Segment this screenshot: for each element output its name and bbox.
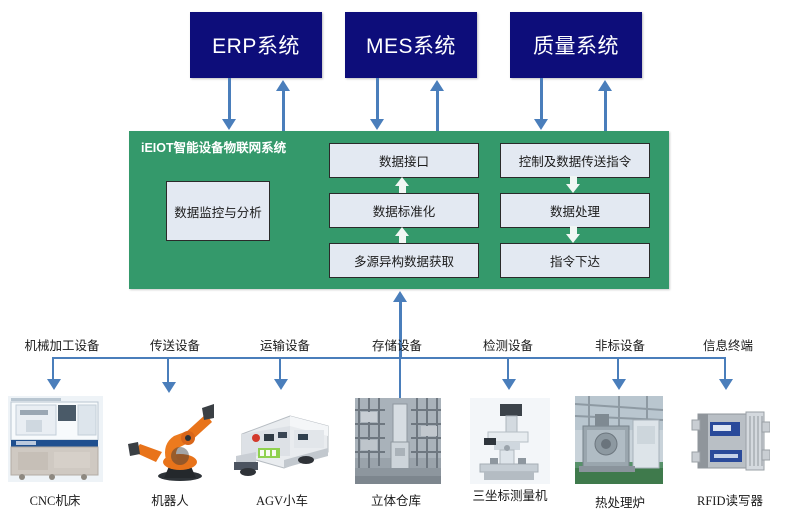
platform-box-data-interface[interactable]: 数据接口 (329, 143, 479, 178)
device-image-heat-furnace (575, 396, 663, 484)
platform-box-data-interface-label: 数据接口 (379, 151, 429, 170)
connector-erp-down-head (222, 119, 236, 130)
device-image-robot-arm (128, 400, 214, 482)
connector-quality-up-head (598, 80, 612, 91)
arrow-acquisition-to-standardization-head (395, 227, 409, 236)
drop-machining-stem (52, 357, 54, 381)
platform-box-data-standardization-label: 数据标准化 (373, 201, 436, 220)
drop-inspection-head (502, 379, 516, 390)
platform-box-control-transmit-command[interactable]: 控制及数据传送指令 (500, 143, 650, 178)
connector-quality-down-head (534, 119, 548, 130)
device-caption-furnace: 热处理炉 (595, 492, 645, 511)
category-label-storage: 存储设备 (372, 335, 422, 354)
platform-box-data-monitoring[interactable]: 数据监控与分析 (166, 181, 270, 241)
arrow-command-to-processing-head (566, 184, 580, 193)
system-box-mes[interactable]: MES系统 (345, 12, 477, 78)
arrow-command-to-processing-stem (570, 176, 577, 184)
device-image-warehouse-rack (355, 398, 441, 484)
category-label-conveying: 传送设备 (150, 335, 200, 354)
equipment-bus-line (53, 357, 726, 359)
device-caption-robot: 机器人 (151, 490, 189, 509)
platform-box-multisource-acquisition-label: 多源异构数据获取 (354, 251, 454, 270)
platform-box-control-transmit-command-label: 控制及数据传送指令 (519, 151, 632, 170)
category-label-inspection: 检测设备 (483, 335, 533, 354)
platform-box-command-dispatch[interactable]: 指令下达 (500, 243, 650, 278)
device-image-cnc-machine (8, 396, 103, 482)
category-label-machining: 机械加工设备 (24, 335, 99, 354)
device-image-agv-cart (232, 404, 332, 478)
drop-nonstandard-head (612, 379, 626, 390)
connector-mes-down-stem (376, 78, 379, 121)
device-image-rfid-reader (690, 408, 770, 474)
drop-conveying-stem (167, 357, 169, 384)
device-caption-cnc-machine: CNC机床 (30, 490, 81, 509)
drop-machining-head (47, 379, 61, 390)
connector-quality-up-stem (604, 90, 607, 131)
platform-box-data-processing[interactable]: 数据处理 (500, 193, 650, 228)
drop-nonstandard-stem (617, 357, 619, 381)
arrow-standardization-to-interface-stem (399, 185, 406, 193)
platform-box-data-standardization[interactable]: 数据标准化 (329, 193, 479, 228)
platform-title: iEIOT智能设备物联网系统 (141, 137, 286, 156)
arrow-processing-to-dispatch-stem (570, 226, 577, 234)
category-label-nonstandard: 非标设备 (595, 335, 645, 354)
device-caption-rfid-reader: RFID读写器 (697, 490, 763, 509)
drop-transport-head (274, 379, 288, 390)
ieiot-platform-panel: iEIOT智能设备物联网系统 数据监控与分析 数据接口 数据标准化 多源异构数据… (129, 131, 669, 289)
system-box-quality-label: 质量系统 (533, 30, 619, 60)
platform-box-multisource-acquisition[interactable]: 多源异构数据获取 (329, 243, 479, 278)
device-image-cmm-machine (470, 398, 550, 484)
connector-mes-down-head (370, 119, 384, 130)
drop-inspection-stem (507, 357, 509, 381)
system-box-erp-label: ERP系统 (212, 30, 300, 60)
bus-riser-head (393, 291, 407, 302)
system-box-quality[interactable]: 质量系统 (510, 12, 642, 78)
connector-erp-up-stem (282, 90, 285, 131)
device-caption-cmm: 三坐标测量机 (472, 485, 547, 504)
arrow-processing-to-dispatch-head (566, 234, 580, 243)
system-box-mes-label: MES系统 (366, 30, 456, 60)
drop-info-terminal-stem (724, 357, 726, 381)
arrow-standardization-to-interface-head (395, 177, 409, 186)
connector-erp-up-head (276, 80, 290, 91)
platform-box-command-dispatch-label: 指令下达 (550, 251, 600, 270)
platform-box-data-monitoring-label: 数据监控与分析 (174, 202, 262, 221)
connector-mes-up-head (430, 80, 444, 91)
connector-erp-down-stem (228, 78, 231, 121)
drop-transport-stem (279, 357, 281, 381)
connector-quality-down-stem (540, 78, 543, 121)
system-box-erp[interactable]: ERP系统 (190, 12, 322, 78)
platform-box-data-processing-label: 数据处理 (550, 201, 600, 220)
category-label-transport: 运输设备 (260, 335, 310, 354)
category-label-info-terminal: 信息终端 (703, 335, 753, 354)
device-caption-warehouse: 立体仓库 (371, 490, 421, 509)
device-caption-agv-cart: AGV小车 (256, 490, 308, 509)
iot-architecture-diagram: ERP系统 MES系统 质量系统 iEIOT智能设备物联网系统 数据监控与分析 … (0, 0, 795, 517)
arrow-acquisition-to-standardization-stem (399, 235, 406, 243)
connector-mes-up-stem (436, 90, 439, 131)
drop-conveying-head (162, 382, 176, 393)
drop-info-terminal-head (719, 379, 733, 390)
